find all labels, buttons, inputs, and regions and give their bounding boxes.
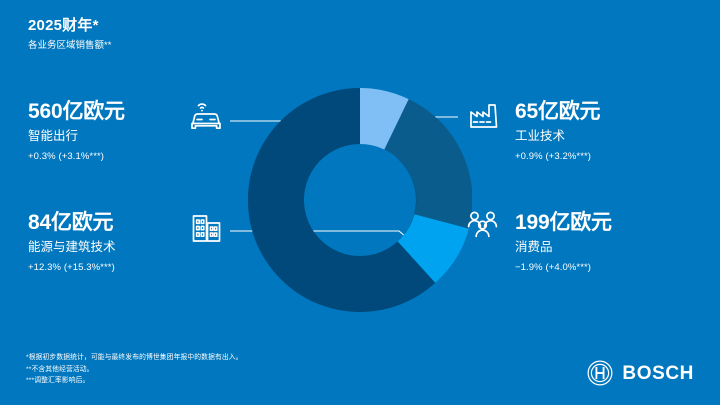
- connected-car-icon: [188, 100, 226, 134]
- kpi-energy: 84亿欧元 能源与建筑技术 +12.3% (+15.3%***): [28, 211, 116, 273]
- kpi-industrial: 65亿欧元 工业技术 +0.9% (+3.2%***): [515, 100, 600, 162]
- kpi-industrial-name: 工业技术: [515, 129, 600, 144]
- slide-header: 2025财年* 各业务区域销售额**: [28, 17, 111, 51]
- buildings-icon: [190, 212, 224, 246]
- factory-icon: [468, 100, 506, 132]
- footnote-1: *根据初步数据统计，可能与最终发布的博世集团年报中的数据有出入。: [26, 352, 243, 363]
- kpi-consumer: 199亿欧元 消费品 −1.9% (+4.0%***): [515, 211, 612, 273]
- bosch-wordmark: BOSCH: [622, 364, 694, 383]
- page-title: 2025财年*: [28, 17, 111, 35]
- people-group-icon: [464, 208, 502, 240]
- kpi-consumer-name: 消费品: [515, 240, 612, 255]
- bosch-logo: BOSCH: [587, 360, 694, 386]
- footnote-2: **不含其他经营活动。: [26, 364, 243, 375]
- donut-chart: [248, 88, 472, 312]
- bosch-armature-icon: [587, 360, 613, 386]
- page-subtitle: 各业务区域销售额**: [28, 40, 111, 51]
- footnote-3: ***调整汇率影响后。: [26, 375, 243, 386]
- slide-canvas: 2025财年* 各业务区域销售额**: [0, 0, 720, 405]
- footnotes: *根据初步数据统计，可能与最终发布的博世集团年报中的数据有出入。 **不含其他经…: [26, 352, 243, 386]
- kpi-mobility-value: 560亿欧元: [28, 100, 125, 123]
- kpi-mobility-delta: +0.3% (+3.1%***): [28, 151, 125, 162]
- kpi-energy-delta: +12.3% (+15.3%***): [28, 262, 116, 273]
- kpi-consumer-delta: −1.9% (+4.0%***): [515, 262, 612, 273]
- kpi-mobility: 560亿欧元 智能出行 +0.3% (+3.1%***): [28, 100, 125, 162]
- donut-chart-svg: [248, 88, 472, 312]
- kpi-mobility-name: 智能出行: [28, 129, 125, 144]
- kpi-industrial-value: 65亿欧元: [515, 100, 600, 123]
- kpi-energy-name: 能源与建筑技术: [28, 240, 116, 255]
- kpi-energy-value: 84亿欧元: [28, 211, 116, 234]
- kpi-industrial-delta: +0.9% (+3.2%***): [515, 151, 600, 162]
- kpi-consumer-value: 199亿欧元: [515, 211, 612, 234]
